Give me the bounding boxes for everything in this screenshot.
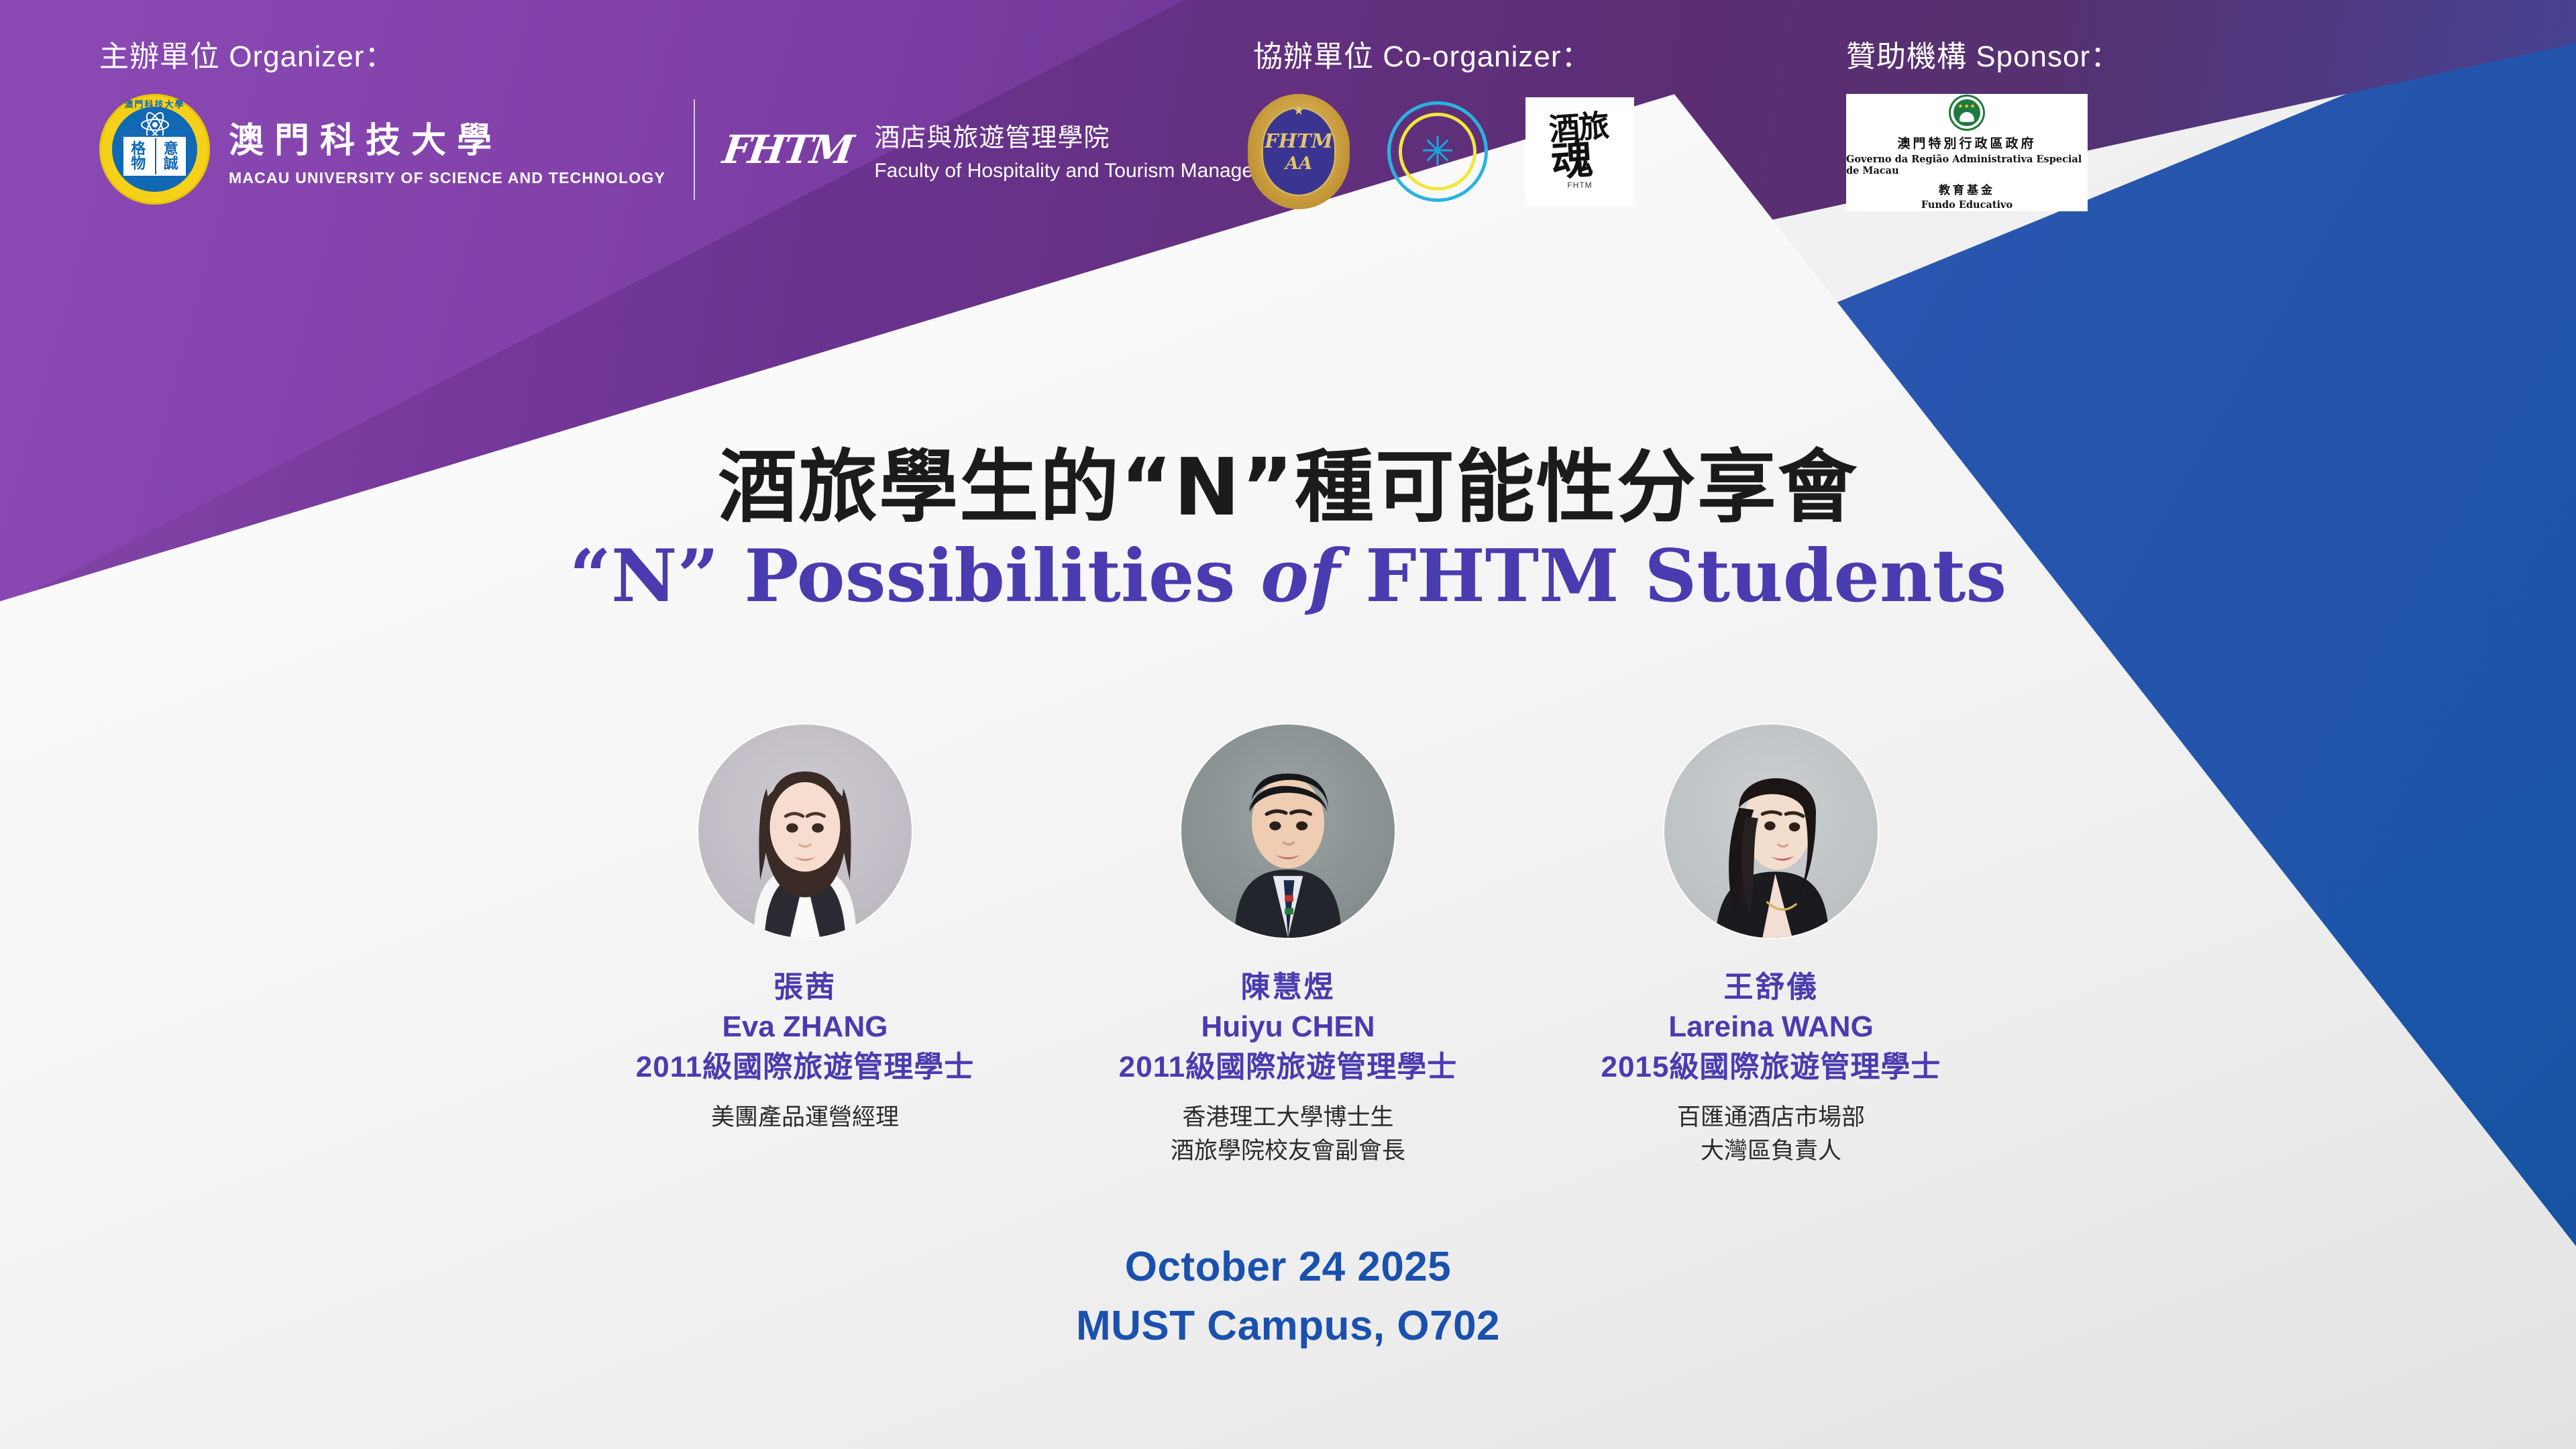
speaker-role: 香港理工大學博士生 酒旅學院校友會副會長 — [1100, 1102, 1476, 1168]
speaker-degree: 2011級國際旅遊管理學士 — [1100, 1047, 1476, 1087]
coorganizer-label: 協辦單位 Co-organizer： — [1253, 32, 1592, 75]
sponsor-cn-line2: 教育基金 — [1939, 180, 1995, 197]
motto-char: 物 — [131, 156, 146, 171]
sponsor-cn-line1: 澳門特別行政區政府 — [1897, 133, 2036, 152]
lotus-icon — [1960, 112, 1974, 122]
must-wordmark: 澳門科技大學 MACAU UNIVERSITY OF SCIENCE AND T… — [229, 112, 665, 187]
motto-char: 格 — [131, 142, 146, 156]
society-emblem-icon: ✳ — [1387, 101, 1488, 202]
speaker-name-cn: 張茜 — [617, 967, 993, 1007]
sponsor-pt-line2: Fundo Educativo — [1921, 199, 2012, 211]
fhtm-aa-badge-icon: ★ FHTM AA — [1248, 94, 1350, 209]
fhtm-name-en: Faculty of Hospitality and Tourism Manag… — [874, 160, 1297, 182]
title-en-part1: “N” Possibilities — [570, 534, 1260, 619]
macau-education-fund-tile: ★★★ 澳門特別行政區政府 Governo da Região Administ… — [1846, 94, 2088, 211]
society-starburst-icon: ✳ — [1387, 101, 1488, 202]
avatar — [698, 724, 912, 938]
fhtm-name-cn: 酒店與旅遊管理學院 — [874, 117, 1297, 154]
jiulvhun-big: 魂 — [1550, 138, 1612, 180]
macau-sar-emblem-icon: ★★★ — [1949, 95, 1985, 131]
emblem-stars-icon: ★★★ — [1953, 103, 1980, 110]
must-name-cn: 澳門科技大學 — [229, 112, 665, 162]
event-title-en: “N” Possibilities of FHTM Students — [0, 535, 2576, 618]
fhtm-aa-core: FHTM AA — [1261, 107, 1336, 197]
title-en-italic: of — [1260, 534, 1340, 619]
fhtm-aa-line1: FHTM — [1265, 129, 1333, 152]
jiulvhun-logo-tile: 酒旅 魂 FHTM — [1525, 97, 1634, 206]
fhtm-aa-line2: AA — [1285, 154, 1312, 174]
logo-divider — [694, 99, 695, 200]
event-title-cn: 酒旅學生的“N”種可能性分享會 — [0, 443, 2576, 531]
fhtm-mark-icon: FHTM — [720, 127, 855, 172]
sponsor-label: 贊助機構 Sponsor： — [1846, 32, 2121, 75]
speaker-degree: 2015級國際旅遊管理學士 — [1583, 1047, 1959, 1087]
motto-char: 意 — [164, 142, 178, 156]
title-en-part2: FHTM Students — [1340, 534, 2006, 619]
motto-char: 誠 — [164, 156, 178, 171]
event-date: October 24 2025 — [0, 1238, 2576, 1297]
avatar — [1181, 724, 1395, 938]
emblem-disc: ★★★ — [1953, 99, 1980, 126]
event-poster: 主辦單位 Organizer： 澳門科技大學 格 意 物 誠 — [0, 0, 2576, 1449]
speakers-row: 張茜 Eva ZHANG 2011級國際旅遊管理學士 美團產品運營經理 — [617, 724, 1959, 1169]
speaker-portrait-lareina-wang — [1664, 724, 1878, 938]
speaker-name-cn: 王舒儀 — [1583, 967, 1959, 1007]
organizer-label: 主辦單位 Organizer： — [99, 32, 394, 75]
organizer-logos: 澳門科技大學 格 意 物 誠 澳門科技大學 MACAU UNI — [99, 94, 1298, 205]
must-seal-motto: 格 意 物 誠 — [122, 136, 187, 177]
speaker-role-line: 酒旅學院校友會副會長 — [1100, 1135, 1476, 1169]
speaker-name-en: Huiyu CHEN — [1100, 1007, 1476, 1046]
event-venue: MUST Campus, O702 — [0, 1297, 2576, 1356]
coorganizer-logos: ★ FHTM AA ✳ 酒旅 魂 FHTM — [1248, 94, 1634, 209]
speaker-portrait-huiyu-chen — [1181, 724, 1395, 938]
speaker-role: 美團產品運營經理 — [617, 1102, 993, 1135]
avatar — [1664, 724, 1878, 938]
jiulvhun-glyph: 酒旅 魂 — [1548, 111, 1612, 180]
must-seal-icon: 澳門科技大學 格 意 物 誠 — [99, 94, 210, 205]
title-block: 酒旅學生的“N”種可能性分享會 “N” Possibilities of FHT… — [0, 443, 2576, 618]
speaker-card: 陳慧煜 Huiyu CHEN 2011級國際旅遊管理學士 香港理工大學博士生 酒… — [1100, 724, 1476, 1169]
star-icon: ★ — [1293, 103, 1304, 119]
must-name-en: MACAU UNIVERSITY OF SCIENCE AND TECHNOLO… — [229, 169, 665, 187]
speaker-degree: 2011級國際旅遊管理學士 — [617, 1047, 993, 1087]
speaker-name-cn: 陳慧煜 — [1100, 967, 1476, 1007]
event-details: October 24 2025 MUST Campus, O702 — [0, 1238, 2576, 1356]
speaker-card: 王舒儀 Lareina WANG 2015級國際旅遊管理學士 百匯通酒店市場部 … — [1583, 724, 1959, 1169]
speaker-card: 張茜 Eva ZHANG 2011級國際旅遊管理學士 美團產品運營經理 — [617, 724, 993, 1169]
speaker-role-line: 香港理工大學博士生 — [1100, 1102, 1476, 1135]
atom-icon — [140, 111, 170, 138]
speaker-name-en: Eva ZHANG — [617, 1007, 993, 1046]
speaker-role-line: 百匯通酒店市場部 — [1583, 1102, 1959, 1135]
speaker-portrait-eva-zhang — [698, 724, 912, 938]
speaker-name-en: Lareina WANG — [1583, 1007, 1959, 1046]
speaker-role-line: 美團產品運營經理 — [617, 1102, 993, 1135]
sponsor-logos: ★★★ 澳門特別行政區政府 Governo da Região Administ… — [1846, 94, 2088, 211]
sponsor-pt-line1: Governo da Região Administrativa Especia… — [1846, 154, 2088, 176]
speaker-role: 百匯通酒店市場部 大灣區負責人 — [1583, 1102, 1959, 1168]
fhtm-wordmark: 酒店與旅遊管理學院 Faculty of Hospitality and Tou… — [874, 117, 1297, 182]
speaker-role-line: 大灣區負責人 — [1583, 1135, 1959, 1169]
poster-header: 主辦單位 Organizer： 澳門科技大學 格 意 物 誠 — [0, 0, 2576, 255]
